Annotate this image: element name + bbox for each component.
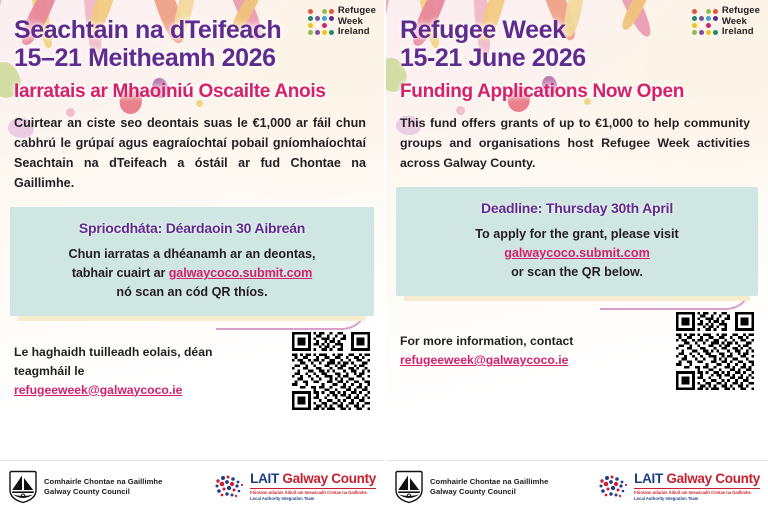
deadline-heading-irish: Spriocdháta: Déardaoin 30 Aibreán bbox=[22, 220, 362, 236]
deadline-card-irish: Spriocdháta: Déardaoin 30 Aibreán Chun i… bbox=[10, 207, 374, 316]
contact-text-irish: Le haghaidh tuilleadh eolais, déan teagm… bbox=[14, 343, 292, 400]
qr-code-svg bbox=[292, 332, 370, 410]
galway-county-council-logo: Comhairle Chontae na Gaillimhe Galway Co… bbox=[394, 470, 548, 504]
submit-link-english[interactable]: galwaycoco.submit.com bbox=[504, 246, 650, 260]
deadline-heading-english: Deadline: Thursday 30th April bbox=[408, 200, 746, 216]
council-name-irish: Comhairle Chontae na Gaillimhe bbox=[430, 477, 548, 487]
qr-code-svg bbox=[676, 312, 754, 390]
decorative-line-bottom bbox=[600, 308, 720, 310]
lait-title: LAIT Galway County bbox=[250, 472, 376, 486]
logo-dot-grid bbox=[308, 9, 334, 35]
title-line-2: 15–21 Meitheamh 2026 bbox=[14, 44, 370, 72]
council-crest-icon bbox=[394, 470, 424, 504]
contact-email-english[interactable]: refugeeweek@galwaycoco.ie bbox=[400, 353, 568, 367]
title-line-1: Seachtain na dTeifeach bbox=[14, 16, 281, 44]
contact-row-english: For more information, contact refugeewee… bbox=[386, 312, 768, 390]
poster-panel-irish: Refugee Week Ireland Seachtain na dTeife… bbox=[0, 0, 384, 512]
lait-wordmark: LAIT Galway County Fóireann údaráis Áiti… bbox=[250, 472, 376, 501]
lait-divider bbox=[250, 488, 376, 489]
card-line-1: To apply for the grant, please visit bbox=[408, 225, 746, 244]
lait-region: Galway County bbox=[666, 471, 760, 486]
title-line-1: Refugee Week bbox=[400, 16, 566, 44]
council-name-english: Galway County Council bbox=[430, 487, 548, 497]
lait-subtitle: Fóireann údaráis Áitiúil um Imeascadh Co… bbox=[250, 490, 376, 500]
logo-line-1: Refugee bbox=[338, 6, 376, 17]
lait-dot-cluster-icon bbox=[598, 473, 630, 501]
qr-code-english[interactable] bbox=[676, 312, 754, 390]
deadline-card-body-irish: Chun iarratas a dhéanamh ar an deontas, … bbox=[22, 245, 362, 302]
subtitle-irish: Iarratais ar Mhaoiniú Oscailte Anois bbox=[14, 81, 370, 102]
contact-row-irish: Le haghaidh tuilleadh eolais, déan teagm… bbox=[0, 332, 384, 410]
logo-dot-grid bbox=[692, 9, 718, 35]
lait-subtitle: Fóireann údaráis Áitiúil um Imeascadh Co… bbox=[634, 490, 760, 500]
galway-county-council-logo: Comhairle Chontae na Gaillimhe Galway Co… bbox=[8, 470, 162, 504]
lait-title: LAIT Galway County bbox=[634, 472, 760, 486]
lait-logo: LAIT Galway County Fóireann údaráis Áiti… bbox=[598, 472, 760, 501]
body-copy-english: This fund offers grants of up to €1,000 … bbox=[400, 113, 754, 173]
bilingual-poster-pair: Refugee Week Ireland Seachtain na dTeife… bbox=[0, 0, 768, 512]
card-line-3: nó scan an cód QR thíos. bbox=[22, 283, 362, 302]
poster-panel-english: Refugee Week Ireland Refugee Week 15-21 … bbox=[384, 0, 768, 512]
refugee-week-ireland-logo: Refugee Week Ireland bbox=[308, 6, 376, 38]
council-crest-icon bbox=[8, 470, 38, 504]
qr-code-irish[interactable] bbox=[292, 332, 370, 410]
body-copy-irish: Cuirtear an ciste seo deontais suas le €… bbox=[14, 113, 370, 193]
subtitle-english: Funding Applications Now Open bbox=[400, 81, 754, 102]
lait-subtitle-irish: Fóireann údaráis Áitiúil um Imeascadh Co… bbox=[250, 490, 376, 495]
contact-line-2: teagmháil le bbox=[14, 362, 286, 381]
lait-subtitle-english: Local Authority Integration Team bbox=[250, 496, 376, 501]
card-line-1: Chun iarratas a dhéanamh ar an deontas, bbox=[22, 245, 362, 264]
council-name-irish: Comhairle Chontae na Gaillimhe bbox=[44, 477, 162, 487]
lait-subtitle-english: Local Authority Integration Team bbox=[634, 496, 760, 501]
contact-line-1: Le haghaidh tuilleadh eolais, déan bbox=[14, 343, 286, 362]
contact-email-irish[interactable]: refugeeweek@galwaycoco.ie bbox=[14, 383, 182, 397]
deadline-card-wrapper-irish: Spriocdháta: Déardaoin 30 Aibreán Chun i… bbox=[10, 207, 374, 316]
logo-line-3: Ireland bbox=[722, 27, 760, 38]
logo-line-3: Ireland bbox=[338, 27, 376, 38]
logo-wordmark: Refugee Week Ireland bbox=[722, 6, 760, 38]
lait-acronym: LAIT bbox=[634, 471, 663, 486]
logo-wordmark: Refugee Week Ireland bbox=[338, 6, 376, 38]
card-line-2: galwaycoco.submit.com bbox=[408, 244, 746, 263]
council-wordmark: Comhairle Chontae na Gaillimhe Galway Co… bbox=[430, 477, 548, 497]
council-wordmark: Comhairle Chontae na Gaillimhe Galway Co… bbox=[44, 477, 162, 497]
contact-text-english: For more information, contact refugeewee… bbox=[400, 332, 676, 370]
decorative-line-bottom bbox=[216, 328, 336, 330]
refugee-week-ireland-logo-english: Refugee Week Ireland bbox=[692, 6, 760, 38]
lait-logo: LAIT Galway County Fóireann údaráis Áiti… bbox=[214, 472, 376, 501]
lait-acronym: LAIT bbox=[250, 471, 279, 486]
lait-region: Galway County bbox=[282, 471, 376, 486]
council-name-english: Galway County Council bbox=[44, 487, 162, 497]
card-line-2-prefix: tabhair cuairt ar bbox=[72, 266, 169, 280]
lait-divider bbox=[634, 488, 760, 489]
lait-dot-cluster-icon bbox=[214, 473, 246, 501]
card-line-2: tabhair cuairt ar galwaycoco.submit.com bbox=[22, 264, 362, 283]
logo-line-1: Refugee bbox=[722, 6, 760, 17]
card-line-3: or scan the QR below. bbox=[408, 263, 746, 282]
title-line-2: 15-21 June 2026 bbox=[400, 44, 754, 72]
footer-irish: Comhairle Chontae na Gaillimhe Galway Co… bbox=[0, 460, 384, 512]
deadline-card-english: Deadline: Thursday 30th April To apply f… bbox=[396, 187, 758, 296]
deadline-card-wrapper-english: Deadline: Thursday 30th April To apply f… bbox=[396, 187, 758, 296]
lait-subtitle-irish: Fóireann údaráis Áitiúil um Imeascadh Co… bbox=[634, 490, 760, 495]
submit-link-irish[interactable]: galwaycoco.submit.com bbox=[169, 266, 312, 280]
deadline-card-body-english: To apply for the grant, please visit gal… bbox=[408, 225, 746, 282]
lait-wordmark: LAIT Galway County Fóireann údaráis Áiti… bbox=[634, 472, 760, 501]
footer-english: Comhairle Chontae na Gaillimhe Galway Co… bbox=[386, 460, 768, 512]
contact-line-1: For more information, contact bbox=[400, 332, 670, 351]
